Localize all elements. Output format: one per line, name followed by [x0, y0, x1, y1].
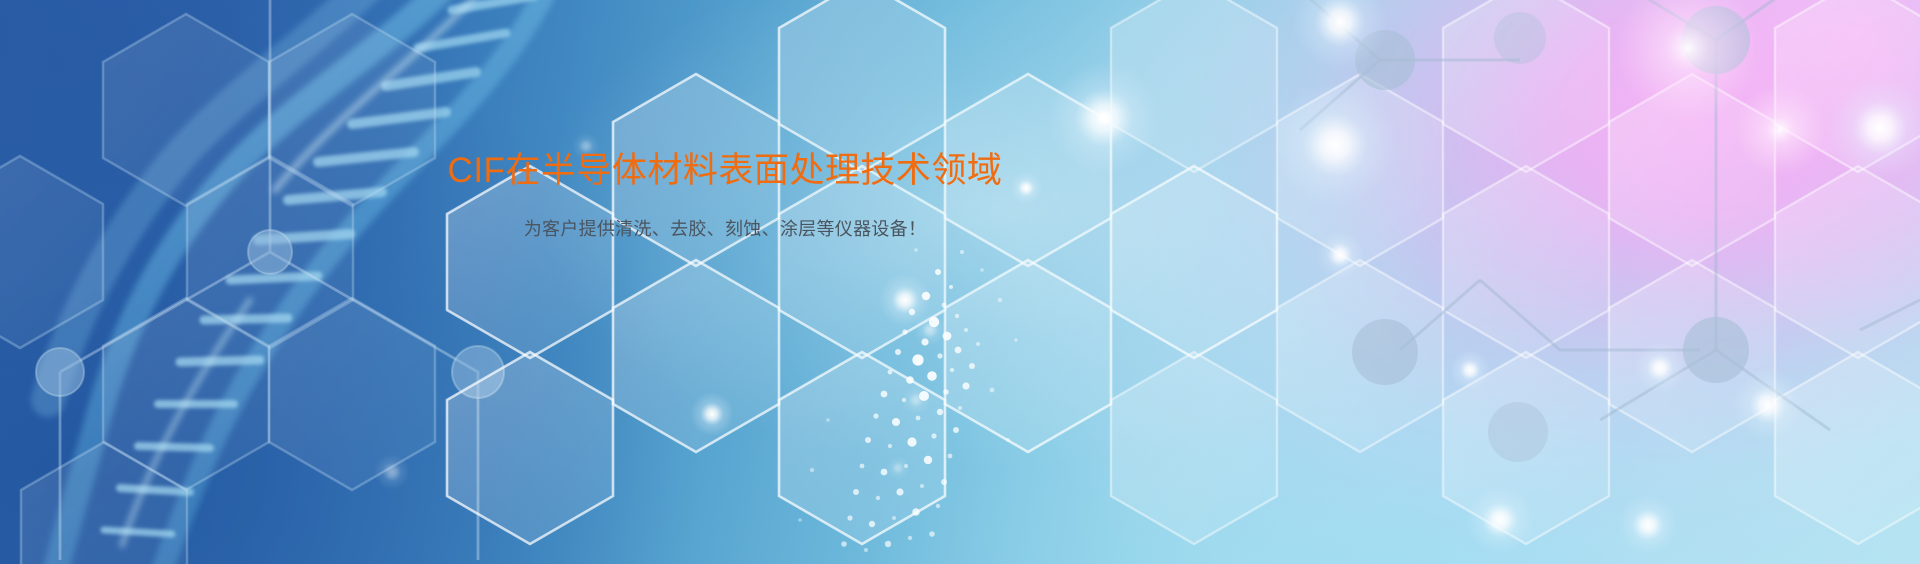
background-base-gradient: [0, 0, 1920, 564]
bokeh-light-icon: [0, 0, 1920, 564]
background-deep-blue-glow: [0, 0, 1920, 564]
headline-backlight: [0, 0, 1920, 564]
hexagon-lattice-icon: [0, 0, 1920, 564]
background-pink-glow: [0, 0, 1920, 564]
banner-subline: 为客户提供清洗、去胶、刻蚀、涂层等仪器设备！: [0, 216, 1450, 242]
background-lavender-glow: [0, 0, 1920, 564]
banner-headline: CIF在半导体材料表面处理技术领域: [0, 148, 1450, 194]
banner-text-block: CIF在半导体材料表面处理技术领域 为客户提供清洗、去胶、刻蚀、涂层等仪器设备！: [0, 148, 1920, 242]
particle-burst-icon: [0, 0, 1920, 564]
dna-helix-icon: [0, 0, 1920, 564]
hero-banner: CIF在半导体材料表面处理技术领域 为客户提供清洗、去胶、刻蚀、涂层等仪器设备！: [0, 0, 1920, 564]
background-pink-glow-corner: [0, 0, 1920, 564]
background-deep-blue-glow-top: [0, 0, 1920, 564]
background-cyan-glow: [0, 0, 1920, 564]
